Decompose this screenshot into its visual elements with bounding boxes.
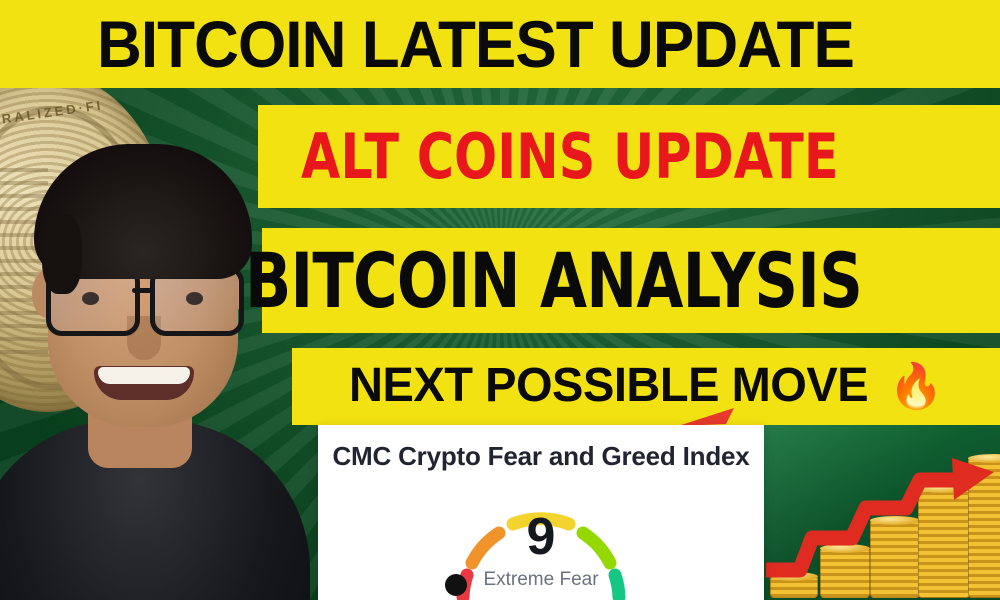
gauge-value: 9 <box>441 511 641 563</box>
widget-title: CMC Crypto Fear and Greed Index <box>318 441 764 472</box>
person-teeth <box>98 367 190 384</box>
youtube-thumbnail: NTRALIZED·FI <box>0 0 1000 600</box>
fire-icon: 🔥 <box>888 365 943 409</box>
gauge-label: Extreme Fear <box>441 569 641 591</box>
banner-text-2: ALT COINS UPDATE <box>301 128 839 185</box>
banner-text-1: BITCOIN LATEST UPDATE <box>97 14 854 75</box>
fear-greed-gauge: 9 Extreme Fear <box>441 489 641 600</box>
banner-text-3: BITCOIN ANALYSIS <box>245 246 862 316</box>
banner-next-possible-move: NEXT POSSIBLE MOVE 🔥 <box>292 348 1000 425</box>
up-arrow-icon <box>766 452 998 582</box>
banner-alt-coins-update: ALT COINS UPDATE <box>258 105 1000 208</box>
person-hair <box>34 144 252 279</box>
banner-bitcoin-latest-update: BITCOIN LATEST UPDATE <box>0 0 1000 88</box>
person-mouth <box>94 366 194 400</box>
person-photo <box>0 120 290 600</box>
banner-bitcoin-analysis: BITCOIN ANALYSIS <box>262 228 1000 333</box>
coin-stacks-graphic <box>762 425 1000 600</box>
cmc-fear-greed-widget: CMC Crypto Fear and Greed Index 9 Extrem… <box>318 425 764 600</box>
banner-text-4: NEXT POSSIBLE MOVE <box>349 364 868 408</box>
